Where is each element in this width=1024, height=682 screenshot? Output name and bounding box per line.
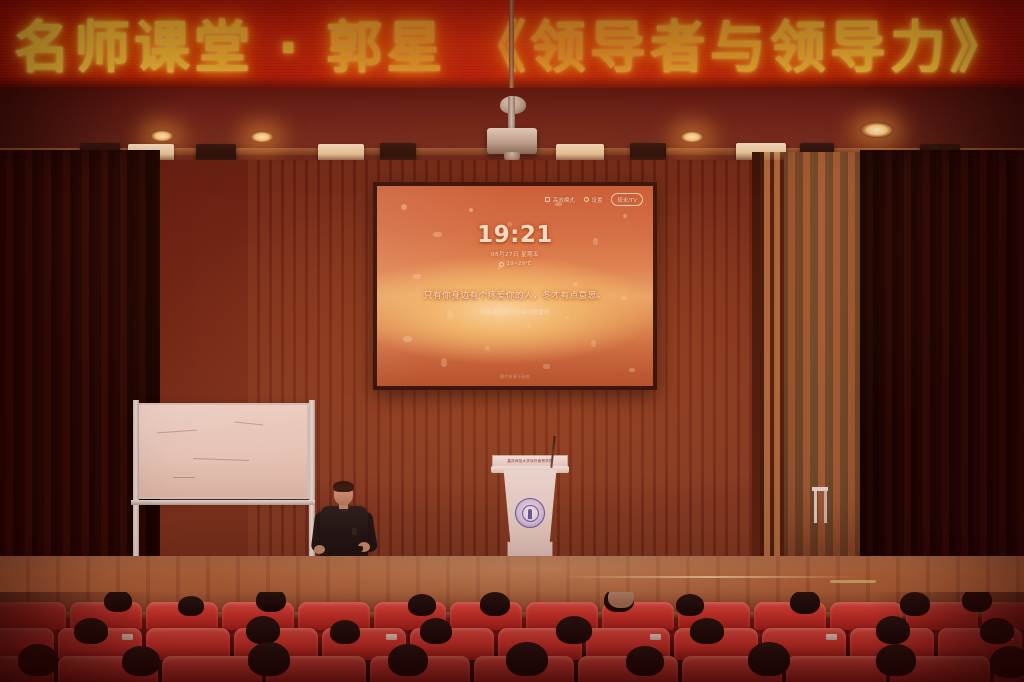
ceiling-downlight <box>680 131 704 143</box>
projector-mount <box>508 96 515 130</box>
auditorium-seat[interactable] <box>786 656 886 682</box>
clock-time: 19:21 <box>377 222 653 248</box>
audience-head <box>248 642 290 676</box>
screen-clock: 19:21 08月27日 星期五 19~29°C <box>377 222 653 267</box>
stage-curtain-right <box>860 150 1024 574</box>
audience-head <box>900 592 930 616</box>
clock-date: 08月27日 星期五 <box>377 250 653 258</box>
screen-glare <box>377 186 653 386</box>
audience-head <box>178 596 204 616</box>
audience-head <box>990 646 1024 678</box>
audience-head <box>104 592 132 612</box>
speaker-torso <box>320 506 368 561</box>
screen-subtitle: 只有你身边有个疼爱你的人，冬才有点意思。 <box>377 289 653 301</box>
seat-number-tag <box>826 634 837 640</box>
stage-cable <box>830 580 876 583</box>
banner-support-pole <box>509 0 514 96</box>
audience-head <box>980 618 1014 644</box>
screen-chip-settings[interactable]: 设置 <box>584 196 603 204</box>
screen-chip-label: 高效模式 <box>553 196 575 204</box>
screen-sub-hint: 轻触遥控器方向键切换壁纸 <box>377 308 653 316</box>
seat-number-tag <box>122 634 133 640</box>
screen-topbar: 高效模式 设置 极米/TV <box>545 193 643 206</box>
auditorium-scene: 名师课堂 · 郭星 《领导者与领导力》 <box>0 0 1024 682</box>
audience-head <box>690 618 724 644</box>
ceiling-projector <box>487 128 537 154</box>
stage-floor-marking <box>560 576 860 578</box>
screen-chip-label: 极米/TV <box>617 196 637 204</box>
university-emblem-icon <box>515 498 545 528</box>
projection-screen: 高效模式 设置 极米/TV 19:21 08月27日 星期五 19~29°C 只 <box>377 186 653 386</box>
audience-head <box>676 594 704 616</box>
audience-area <box>0 592 1024 682</box>
auditorium-seat[interactable] <box>162 656 262 682</box>
speaker-hand-left <box>314 545 325 554</box>
whiteboard-crossbar <box>131 500 315 505</box>
stage-curtain-gold-right <box>784 152 870 572</box>
audience-head <box>556 616 592 644</box>
projection-screen-frame: 高效模式 设置 极米/TV 19:21 08月27日 星期五 19~29°C 只 <box>373 182 657 390</box>
audience-head <box>962 592 992 612</box>
screen-footnote: 图片来源于网络 <box>377 374 653 380</box>
screen-chip-performance-mode[interactable]: 高效模式 <box>545 196 575 204</box>
audience-head <box>420 618 452 644</box>
seat-number-tag <box>650 634 661 640</box>
audience-head <box>790 592 820 614</box>
screen-chip-label: 设置 <box>592 196 603 204</box>
audience-head <box>626 646 664 676</box>
square-outline-icon <box>545 197 550 202</box>
audience-head <box>480 592 510 616</box>
audience-head <box>18 644 58 676</box>
stool-leg <box>814 491 817 523</box>
audience-head <box>388 644 428 676</box>
audience-head <box>408 594 436 616</box>
ceiling-downlight <box>250 131 274 143</box>
presentation-clicker <box>352 546 363 551</box>
stool-leg <box>824 491 827 523</box>
audience-head <box>246 616 280 644</box>
glasses-icon <box>336 490 351 493</box>
audience-head <box>876 616 910 644</box>
screen-chip-brand[interactable]: 极米/TV <box>611 193 643 206</box>
auditorium-seat[interactable] <box>0 602 66 630</box>
clock-weather: 19~29°C <box>377 261 653 267</box>
speaker-mic-pack <box>352 528 357 535</box>
audience-head <box>256 592 286 612</box>
audience-head <box>122 646 160 676</box>
circle-outline-icon <box>584 197 589 202</box>
ceiling-downlight <box>150 130 174 142</box>
ceiling-downlight <box>860 122 894 138</box>
university-emblem-inner <box>522 505 539 522</box>
whiteboard-leg-left <box>133 400 139 568</box>
audience-head <box>608 592 634 608</box>
seat-number-tag <box>386 634 397 640</box>
mobile-whiteboard <box>137 403 309 499</box>
audience-head <box>74 618 108 644</box>
audience-head <box>748 642 790 676</box>
audience-head <box>330 620 360 644</box>
audience-head <box>506 642 548 676</box>
weather-circle-icon <box>499 262 504 267</box>
clock-weather-label: 19~29°C <box>507 261 532 267</box>
audience-head <box>876 644 916 676</box>
